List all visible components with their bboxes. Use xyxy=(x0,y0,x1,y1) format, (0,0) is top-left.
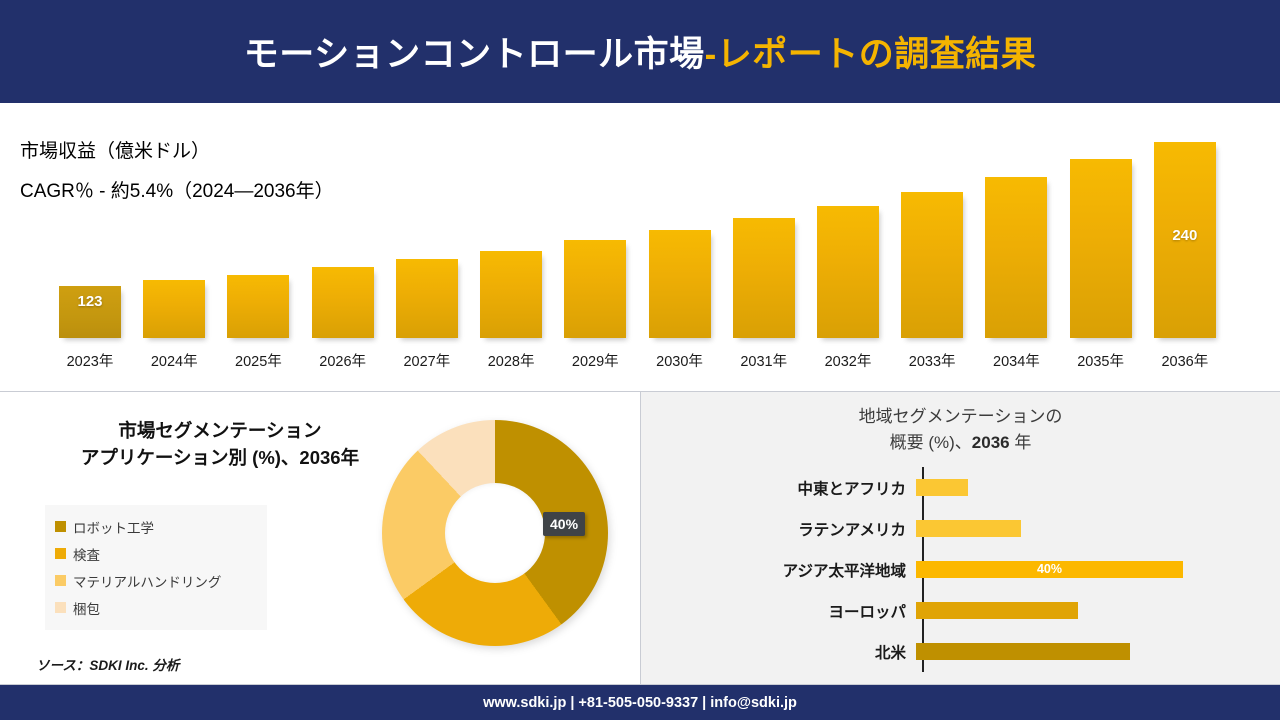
legend-item-robotics[interactable]: ロボット工学 xyxy=(55,513,257,540)
bar-2026[interactable] xyxy=(312,267,374,338)
bar-slot-2028 xyxy=(476,128,546,338)
bar-2033[interactable] xyxy=(901,192,963,338)
region-title-line1: 地域セグメンテーションの xyxy=(641,404,1280,430)
revenue-x-axis: 2023年 2024年 2025年 2026年 2027年 2028年 2029… xyxy=(55,350,1220,371)
x-tick-2023: 2023年 xyxy=(55,350,125,371)
legend-swatch-icon-robotics xyxy=(55,521,66,532)
application-donut-chart: 40% xyxy=(382,420,608,646)
bar-2036[interactable]: 240 xyxy=(1154,142,1216,338)
region-bar-middle-east-africa[interactable] xyxy=(916,479,968,496)
x-tick-2031: 2031年 xyxy=(729,350,799,371)
donut-value-label: 40% xyxy=(543,512,585,536)
region-bar-europe[interactable] xyxy=(916,602,1078,619)
x-tick-2028: 2028年 xyxy=(476,350,546,371)
region-bar-value-asia-pacific: 40% xyxy=(916,562,1183,576)
region-bar-wrap-middle-east-africa xyxy=(916,467,968,508)
region-label-middle-east-africa: 中東とアフリカ xyxy=(681,477,914,499)
bar-slot-2026 xyxy=(308,128,378,338)
region-row-north-america: 北米 xyxy=(681,631,1241,672)
region-bar-latin-america[interactable] xyxy=(916,520,1021,537)
bar-2034[interactable] xyxy=(985,177,1047,338)
header-banner: モーションコントロール市場-レポートの調査結果 xyxy=(0,0,1280,103)
bar-slot-2036: 240 xyxy=(1150,128,1220,338)
x-tick-2024: 2024年 xyxy=(139,350,209,371)
region-row-asia-pacific: アジア太平洋地域 40% xyxy=(681,549,1241,590)
x-tick-2033: 2033年 xyxy=(897,350,967,371)
bar-slot-2033 xyxy=(897,128,967,338)
region-row-europe: ヨーロッパ xyxy=(681,590,1241,631)
x-tick-2027: 2027年 xyxy=(392,350,462,371)
region-title-year: 2036 xyxy=(972,433,1010,452)
bar-slot-2024 xyxy=(139,128,209,338)
bar-slot-2031 xyxy=(729,128,799,338)
region-title-post: 年 xyxy=(1010,433,1032,452)
bar-2029[interactable] xyxy=(564,240,626,338)
region-segmentation-panel: 地域セグメンテーションの 概要 (%)、2036 年 中東とアフリカ ラテンアメ… xyxy=(641,392,1280,684)
bar-slot-2030 xyxy=(645,128,715,338)
legend-item-packaging[interactable]: 梱包 xyxy=(55,594,257,621)
region-row-middle-east-africa: 中東とアフリカ xyxy=(681,467,1241,508)
bar-2031[interactable] xyxy=(733,218,795,338)
legend-swatch-icon-inspection xyxy=(55,548,66,559)
revenue-bar-chart-section: 市場収益（億米ドル） CAGR％ - 約5.4%（2024―2036年） 123 xyxy=(0,103,1280,391)
legend-item-inspection[interactable]: 検査 xyxy=(55,540,257,567)
legend-item-material-handling[interactable]: マテリアルハンドリング xyxy=(55,567,257,594)
bar-slot-2032 xyxy=(813,128,883,338)
bar-slot-2027 xyxy=(392,128,462,338)
page-title-accent: -レポートの調査結果 xyxy=(705,35,1037,74)
region-label-latin-america: ラテンアメリカ xyxy=(681,518,914,540)
x-tick-2029: 2029年 xyxy=(560,350,630,371)
legend-label-packaging: 梱包 xyxy=(73,598,100,618)
source-note: ソース：SDKI Inc. 分析 xyxy=(36,654,179,674)
legend-swatch-icon-packaging xyxy=(55,602,66,613)
bar-slot-2035 xyxy=(1066,128,1136,338)
x-tick-2036: 2036年 xyxy=(1150,350,1220,371)
bar-2028[interactable] xyxy=(480,251,542,338)
footer-contact-text[interactable]: www.sdki.jp | +81-505-050-9337 | info@sd… xyxy=(483,695,797,711)
segmentation-legend: ロボット工学 検査 マテリアルハンドリング 梱包 xyxy=(45,505,267,630)
legend-label-material-handling: マテリアルハンドリング xyxy=(73,571,221,591)
bar-value-2036: 240 xyxy=(1154,227,1216,244)
region-row-latin-america: ラテンアメリカ xyxy=(681,508,1241,549)
region-title-pre: 概要 (%)、 xyxy=(890,433,972,452)
bar-slot-2023: 123 xyxy=(55,128,125,338)
donut-hole xyxy=(445,483,545,583)
segmentation-title-line1: 市場セグメンテーション xyxy=(30,418,410,445)
bar-2024[interactable] xyxy=(143,280,205,338)
page-title-main: モーションコントロール市場 xyxy=(244,35,705,74)
x-tick-2035: 2035年 xyxy=(1066,350,1136,371)
application-segmentation-panel: 市場セグメンテーション アプリケーション別 (%)、2036年 ロボット工学 検… xyxy=(0,392,640,684)
bar-2032[interactable] xyxy=(817,206,879,338)
revenue-bar-row: 123 xyxy=(55,128,1220,338)
legend-swatch-icon-material-handling xyxy=(55,575,66,586)
x-tick-2026: 2026年 xyxy=(308,350,378,371)
bar-2025[interactable] xyxy=(227,275,289,338)
region-bar-north-america[interactable] xyxy=(916,643,1130,660)
x-tick-2034: 2034年 xyxy=(981,350,1051,371)
region-label-north-america: 北米 xyxy=(681,641,914,663)
region-bar-chart: 中東とアフリカ ラテンアメリカ アジア太平洋地域 40% ヨーロッパ xyxy=(681,467,1241,672)
region-bar-wrap-north-america xyxy=(916,631,1130,672)
legend-label-robotics: ロボット工学 xyxy=(73,517,154,537)
bar-2030[interactable] xyxy=(649,230,711,338)
region-bar-asia-pacific[interactable]: 40% xyxy=(916,561,1183,578)
region-label-asia-pacific: アジア太平洋地域 xyxy=(681,559,914,581)
segmentation-title-line2: アプリケーション別 (%)、2036年 xyxy=(30,445,410,472)
page-title: モーションコントロール市場-レポートの調査結果 xyxy=(244,26,1036,77)
bar-value-2023: 123 xyxy=(59,293,121,310)
legend-label-inspection: 検査 xyxy=(73,544,100,564)
region-bar-wrap-asia-pacific: 40% xyxy=(916,549,1183,590)
revenue-bar-chart: 123 xyxy=(55,128,1220,338)
bar-2027[interactable] xyxy=(396,259,458,338)
bar-2023[interactable]: 123 xyxy=(59,286,121,338)
x-tick-2032: 2032年 xyxy=(813,350,883,371)
bar-slot-2025 xyxy=(223,128,293,338)
segmentation-title: 市場セグメンテーション アプリケーション別 (%)、2036年 xyxy=(30,418,410,472)
x-tick-2030: 2030年 xyxy=(645,350,715,371)
region-title-line2: 概要 (%)、2036 年 xyxy=(641,430,1280,456)
region-title: 地域セグメンテーションの 概要 (%)、2036 年 xyxy=(641,404,1280,455)
bar-slot-2034 xyxy=(981,128,1051,338)
x-tick-2025: 2025年 xyxy=(223,350,293,371)
region-label-europe: ヨーロッパ xyxy=(681,600,914,622)
region-bar-wrap-latin-america xyxy=(916,508,1021,549)
bar-slot-2029 xyxy=(560,128,630,338)
footer-banner: www.sdki.jp | +81-505-050-9337 | info@sd… xyxy=(0,685,1280,720)
region-bar-wrap-europe xyxy=(916,590,1078,631)
bar-2035[interactable] xyxy=(1070,159,1132,338)
